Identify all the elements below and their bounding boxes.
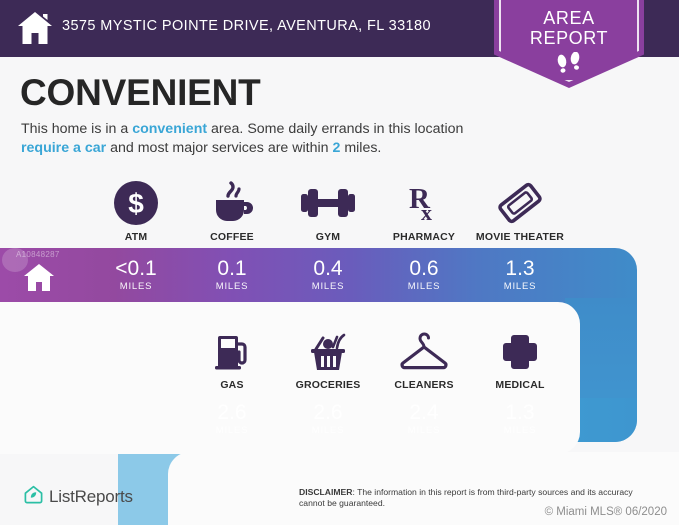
category-label: GROCERIES	[280, 379, 376, 391]
distance-unit: MILES	[376, 425, 472, 436]
mls-copyright: © Miami MLS® 06/2020	[545, 506, 667, 518]
area-report-page: 3575 MYSTIC POINTE DRIVE, AVENTURA, FL 3…	[0, 0, 679, 525]
coffee-cup-icon	[184, 178, 280, 226]
distance-value: 0.6	[376, 258, 472, 280]
disclaimer-label: DISCLAIMER	[299, 487, 352, 497]
subtitle-highlight-convenient: convenient	[132, 121, 207, 137]
atm-dollar-icon: $	[88, 178, 184, 226]
distance-unit: MILES	[280, 425, 376, 436]
page-subtitle: This home is in a convenient area. Some …	[21, 120, 491, 158]
category-label: PHARMACY	[376, 231, 472, 243]
property-address: 3575 MYSTIC POINTE DRIVE, AVENTURA, FL 3…	[62, 18, 431, 34]
distance-groceries: 2.6 MILES	[280, 402, 376, 436]
medical-cross-icon	[472, 326, 568, 374]
footprints-icon	[494, 52, 644, 83]
distance-value: 0.1	[184, 258, 280, 280]
category-label: MOVIE THEATER	[472, 231, 568, 243]
distance-pharmacy: 0.6 MILES	[376, 258, 472, 292]
house-icon	[22, 262, 56, 292]
category-label: CLEANERS	[376, 379, 472, 391]
listreports-house-leaf-icon	[24, 485, 43, 509]
badge-text: AREA REPORT	[494, 8, 644, 48]
distance-medical: 1.3 MILES	[472, 402, 568, 436]
distance-value: 1.3	[472, 258, 568, 280]
subtitle-part3: and most major services are within	[106, 140, 332, 156]
subtitle-part2: area. Some daily errands in this locatio…	[207, 121, 463, 137]
category-medical: MEDICAL	[472, 326, 568, 391]
distance-value: 2.4	[376, 402, 472, 424]
distance-value: 0.4	[280, 258, 376, 280]
category-label: ATM	[88, 231, 184, 243]
distance-value: 2.6	[280, 402, 376, 424]
distance-coffee: 0.1 MILES	[184, 258, 280, 292]
page-title: CONVENIENT	[20, 72, 261, 114]
badge-line2: REPORT	[494, 28, 644, 48]
badge-line1: AREA	[494, 8, 644, 28]
svg-text:$: $	[128, 188, 144, 219]
rx-prescription-icon: R x	[376, 178, 472, 226]
distance-unit: MILES	[376, 281, 472, 292]
mls-watermark: A10848287	[16, 250, 60, 259]
category-movie-theater: MOVIE THEATER	[472, 178, 568, 243]
category-gym: GYM	[280, 178, 376, 243]
category-pharmacy: R x PHARMACY	[376, 178, 472, 243]
distance-cleaners: 2.4 MILES	[376, 402, 472, 436]
distance-gas: 2.6 MILES	[184, 402, 280, 436]
category-label: GAS	[184, 379, 280, 391]
distance-unit: MILES	[472, 281, 568, 292]
distance-unit: MILES	[184, 281, 280, 292]
subtitle-highlight-require-car: require a car	[21, 140, 106, 156]
clothes-hanger-icon	[376, 326, 472, 374]
house-icon	[16, 10, 54, 46]
distance-unit: MILES	[472, 425, 568, 436]
distance-movie-theater: 1.3 MILES	[472, 258, 568, 292]
dumbbell-icon	[280, 178, 376, 226]
category-atm: $ ATM	[88, 178, 184, 243]
grocery-basket-icon	[280, 326, 376, 374]
category-label: COFFEE	[184, 231, 280, 243]
subtitle-part4: miles.	[340, 140, 381, 156]
distance-gym: 0.4 MILES	[280, 258, 376, 292]
listreports-wordmark: ListReports	[49, 487, 133, 507]
category-label: GYM	[280, 231, 376, 243]
distance-atm: <0.1 MILES	[88, 258, 184, 292]
svg-text:x: x	[421, 200, 432, 225]
distance-value: 1.3	[472, 402, 568, 424]
distance-unit: MILES	[88, 281, 184, 292]
category-groceries: GROCERIES	[280, 326, 376, 391]
category-gas: GAS	[184, 326, 280, 391]
distance-unit: MILES	[280, 281, 376, 292]
category-label: MEDICAL	[472, 379, 568, 391]
distance-value: 2.6	[184, 402, 280, 424]
movie-ticket-icon	[472, 178, 568, 226]
gas-pump-icon	[184, 326, 280, 374]
distance-unit: MILES	[184, 425, 280, 436]
distance-value: <0.1	[88, 258, 184, 280]
category-coffee: COFFEE	[184, 178, 280, 243]
category-cleaners: CLEANERS	[376, 326, 472, 391]
listreports-logo: ListReports	[24, 485, 133, 509]
subtitle-part1: This home is in a	[21, 121, 132, 137]
